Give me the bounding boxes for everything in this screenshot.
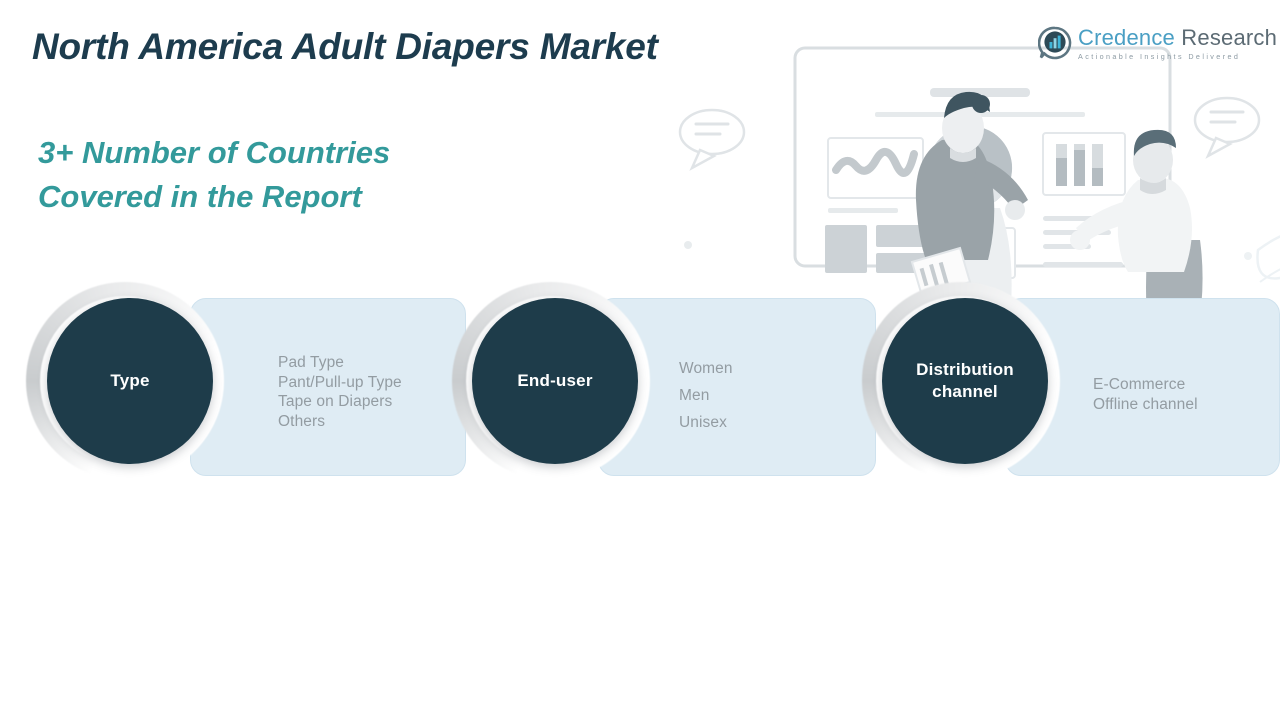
segment-items-end-user: Women Men Unisex (679, 355, 733, 436)
segment-label: End-user (517, 370, 592, 392)
segment-label: Type (110, 370, 149, 392)
bar-chart-speech-bubble-icon (1038, 26, 1072, 60)
logo-name-part1: Credence (1078, 25, 1175, 50)
segment-items-type: Pad Type Pant/Pull-up Type Tape on Diape… (278, 353, 402, 431)
page-title: North America Adult Diapers Market (32, 26, 658, 68)
segment-circle-distribution-channel[interactable]: Distribution channel (882, 298, 1048, 464)
segment-group-type: Type Pad Type Pant/Pull-up Type Tape on … (18, 280, 466, 490)
page-subtitle: 3+ Number of Countries Covered in the Re… (38, 131, 390, 219)
segment-label: Distribution channel (916, 359, 1014, 403)
segment-group-end-user: End-user Women Men Unisex (446, 280, 876, 490)
logo-tagline: Actionable Insights Delivered (1078, 51, 1277, 63)
segment-group-distribution-channel: Distribution channel E-Commerce Offline … (850, 280, 1280, 490)
logo-name: Credence Research (1078, 26, 1277, 50)
credence-research-logo[interactable]: Credence Research Actionable Insights De… (1038, 26, 1277, 63)
segment-circle-end-user[interactable]: End-user (472, 298, 638, 464)
segment-items-distribution-channel: E-Commerce Offline channel (1093, 375, 1198, 414)
logo-name-part2: Research (1175, 25, 1277, 50)
infographic-canvas: Type Pad Type Pant/Pull-up Type Tape on … (0, 0, 1280, 720)
segment-circle-type[interactable]: Type (47, 298, 213, 464)
